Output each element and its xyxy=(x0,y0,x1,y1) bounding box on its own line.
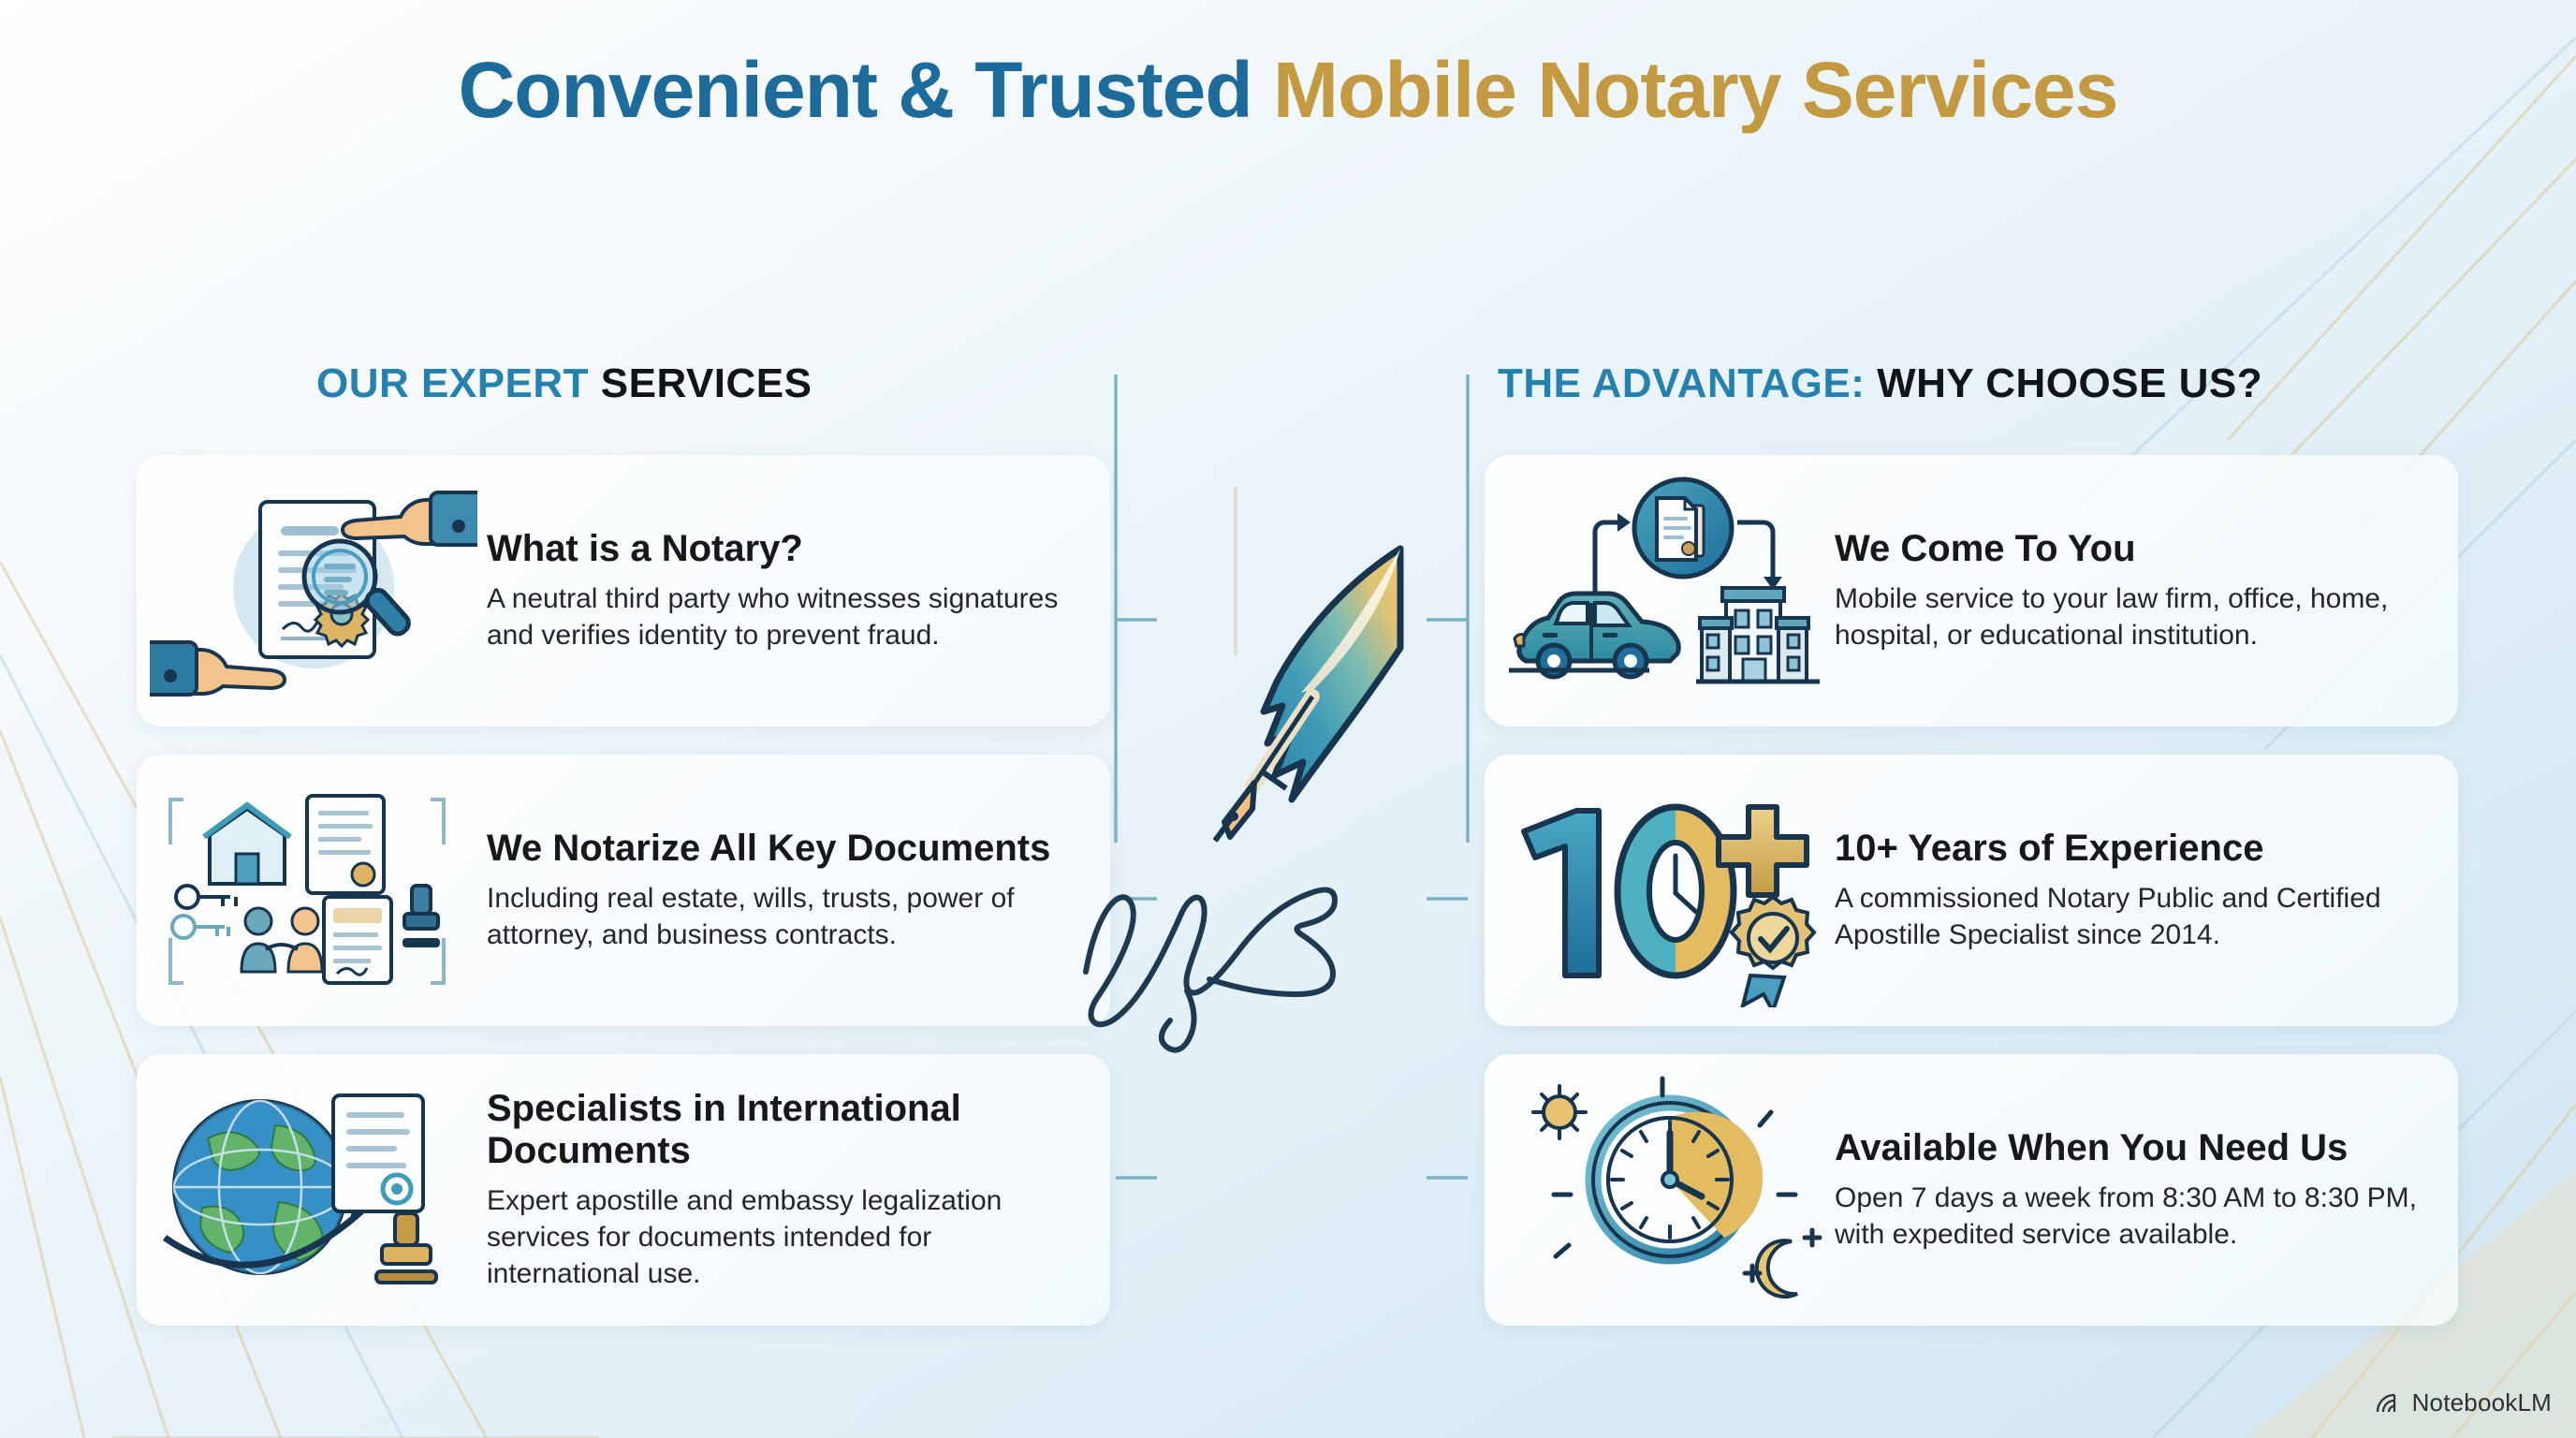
advantage-card[interactable]: 10+ Years of Experience A commissioned N… xyxy=(1485,755,2458,1026)
advantage-card-body: A commissioned Notary Public and Certifi… xyxy=(1835,880,2436,953)
page-title: Convenient & Trusted Mobile Notary Servi… xyxy=(0,45,2576,136)
services-column: What is a Notary? A neutral third party … xyxy=(137,455,1110,1354)
section-header-advantage-plain: WHY CHOOSE US? xyxy=(1877,360,2262,406)
page-title-primary: Convenient & Trusted xyxy=(459,46,1252,134)
advantage-card[interactable]: Available When You Need Us Open 7 days a… xyxy=(1485,1054,2458,1326)
quill-pen-icon xyxy=(1215,549,1400,841)
car-document-building-icon xyxy=(1498,474,1825,708)
service-card[interactable]: What is a Notary? A neutral third party … xyxy=(137,455,1110,726)
advantage-card-title: We Come To You xyxy=(1835,528,2436,570)
notebooklm-label: NotebookLM xyxy=(2412,1388,2552,1417)
advantage-card-text: Available When You Need Us Open 7 days a… xyxy=(1825,1127,2436,1254)
notebooklm-watermark: NotebookLM xyxy=(2375,1388,2552,1417)
service-card-title: What is a Notary? xyxy=(487,528,1088,570)
page-title-secondary: Mobile Notary Services xyxy=(1273,46,2117,134)
section-header-services-plain: SERVICES xyxy=(601,360,812,406)
moon-icon xyxy=(1757,1240,1797,1297)
advantage-card-title: Available When You Need Us xyxy=(1835,1127,2436,1169)
clock-sun-moon-icon xyxy=(1498,1073,1825,1307)
signature-scribble-icon xyxy=(1086,889,1335,1049)
advantage-card-title: 10+ Years of Experience xyxy=(1835,828,2436,870)
service-card-body: Expert apostille and embassy legalizatio… xyxy=(487,1182,1088,1292)
notebooklm-arc-icon xyxy=(2375,1391,2403,1416)
section-header-services: OUR EXPERT SERVICES xyxy=(316,360,812,407)
service-card-body: Including real estate, wills, trusts, po… xyxy=(487,880,1088,953)
house-keys-documents-handshake-stamp-icon xyxy=(150,773,477,1007)
hands-document-magnifier-seal-icon xyxy=(150,474,477,708)
advantage-card-text: We Come To You Mobile service to your la… xyxy=(1825,528,2436,654)
globe-document-stamp-icon xyxy=(150,1073,477,1307)
advantage-card-body: Mobile service to your law firm, office,… xyxy=(1835,580,2436,653)
center-quill-group xyxy=(1067,374,1516,1348)
service-card-title: Specialists in International Documents xyxy=(487,1088,1088,1172)
ten-plus-clock-badge-icon xyxy=(1498,773,1825,1007)
section-header-advantage-accent: THE ADVANTAGE: xyxy=(1498,360,1865,406)
service-card[interactable]: We Notarize All Key Documents Including … xyxy=(137,755,1110,1026)
advantage-card[interactable]: We Come To You Mobile service to your la… xyxy=(1485,455,2458,726)
connector-lines xyxy=(1067,374,1516,1178)
advantage-card-body: Open 7 days a week from 8:30 AM to 8:30 … xyxy=(1835,1180,2436,1253)
section-header-services-accent: OUR EXPERT xyxy=(316,360,589,406)
service-card-text: We Notarize All Key Documents Including … xyxy=(477,828,1088,954)
service-card-text: What is a Notary? A neutral third party … xyxy=(477,528,1088,654)
service-card-title: We Notarize All Key Documents xyxy=(487,828,1088,870)
service-card[interactable]: Specialists in International Documents E… xyxy=(137,1054,1110,1326)
section-header-advantage: THE ADVANTAGE: WHY CHOOSE US? xyxy=(1498,360,2262,407)
advantage-column: We Come To You Mobile service to your la… xyxy=(1485,455,2458,1354)
service-card-text: Specialists in International Documents E… xyxy=(477,1088,1088,1293)
service-card-body: A neutral third party who witnesses sign… xyxy=(487,580,1088,653)
sun-icon xyxy=(1533,1086,1586,1138)
advantage-card-text: 10+ Years of Experience A commissioned N… xyxy=(1825,828,2436,954)
